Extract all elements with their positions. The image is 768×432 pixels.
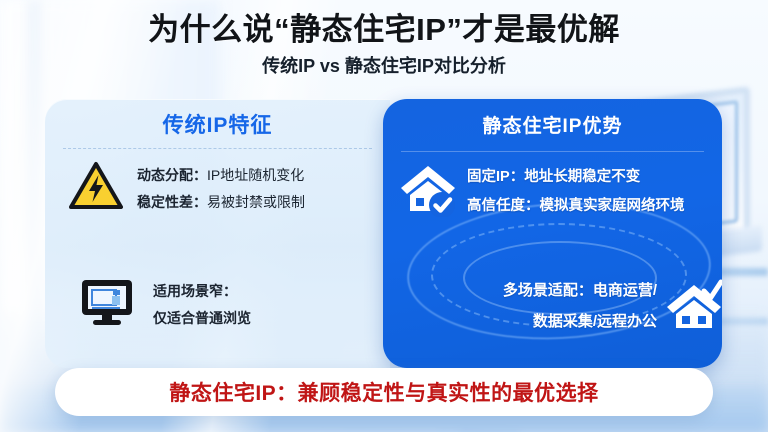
right-row-fixed-ip: 固定IP：地址长期稳定不变 高信任度：模拟真实家庭网络环境 — [397, 161, 722, 222]
left-row-2-text: 适用场景窄： 仅适合普通浏览 — [153, 278, 251, 332]
right-line-2: 高信任度：模拟真实家庭网络环境 — [467, 192, 685, 221]
right-line-1: 固定IP：地址长期稳定不变 — [467, 163, 685, 192]
panel-divider-right — [401, 151, 704, 152]
panel-traditional-ip: 传统IP特征 动态分配：IP地址随机变化 稳定性差：易被封禁或限制 — [45, 99, 390, 368]
right-line-3: 多场景适配：电商运营/ — [395, 275, 657, 306]
left-row-1-text: 动态分配：IP地址随机变化 稳定性差：易被封禁或限制 — [137, 162, 305, 216]
header: 为什么说“静态住宅IP”才是最优解 传统IP vs 静态住宅IP对比分析 — [0, 8, 768, 79]
left-row-narrow-usecase: 适用场景窄： 仅适合普通浏览 — [79, 277, 379, 332]
right-row-2-text: 多场景适配：电商运营/ 数据采集/远程办公 — [395, 275, 657, 337]
left-line-1-label: 动态分配： — [137, 167, 207, 183]
left-row-dynamic-allocation: 动态分配：IP地址随机变化 稳定性差：易被封禁或限制 — [69, 161, 379, 216]
monitor-icon — [79, 277, 135, 332]
panel-static-residential-ip: 静态住宅IP优势 固定IP：地址长期稳定不变 高信任度：模拟真实家庭网络环境 — [383, 99, 722, 368]
right-line-4: 数据采集/远程办公 — [395, 306, 657, 337]
panel-divider-left — [63, 148, 372, 149]
left-line-2-label: 稳定性差： — [137, 194, 207, 210]
house-check-icon — [397, 161, 459, 222]
conclusion-banner: 静态住宅IP：兼顾稳定性与真实性的最优选择 — [55, 368, 713, 416]
conclusion-banner-text: 静态住宅IP：兼顾稳定性与真实性的最优选择 — [169, 377, 598, 407]
slide-root: 为什么说“静态住宅IP”才是最优解 传统IP vs 静态住宅IP对比分析 传统I… — [0, 0, 768, 432]
page-subtitle: 传统IP vs 静态住宅IP对比分析 — [0, 53, 768, 79]
warning-triangle-icon — [69, 161, 123, 216]
page-title: 为什么说“静态住宅IP”才是最优解 — [0, 8, 768, 52]
panel-static-ip-heading: 静态住宅IP优势 — [383, 111, 722, 138]
panel-traditional-ip-heading: 传统IP特征 — [45, 109, 390, 139]
right-row-1-text: 固定IP：地址长期稳定不变 高信任度：模拟真实家庭网络环境 — [467, 163, 685, 221]
left-line-2: 稳定性差：易被封禁或限制 — [137, 189, 305, 216]
right-row-multi-scenario: 多场景适配：电商运营/ 数据采集/远程办公 — [395, 275, 722, 337]
house-check-icon-2 — [663, 276, 722, 337]
left-line-4: 仅适合普通浏览 — [153, 305, 251, 332]
left-line-1: 动态分配：IP地址随机变化 — [137, 162, 305, 189]
left-line-3: 适用场景窄： — [153, 278, 251, 305]
comparison-panels: 传统IP特征 动态分配：IP地址随机变化 稳定性差：易被封禁或限制 — [0, 99, 768, 369]
left-line-1-value: IP地址随机变化 — [207, 167, 304, 183]
left-line-2-value: 易被封禁或限制 — [207, 194, 305, 210]
